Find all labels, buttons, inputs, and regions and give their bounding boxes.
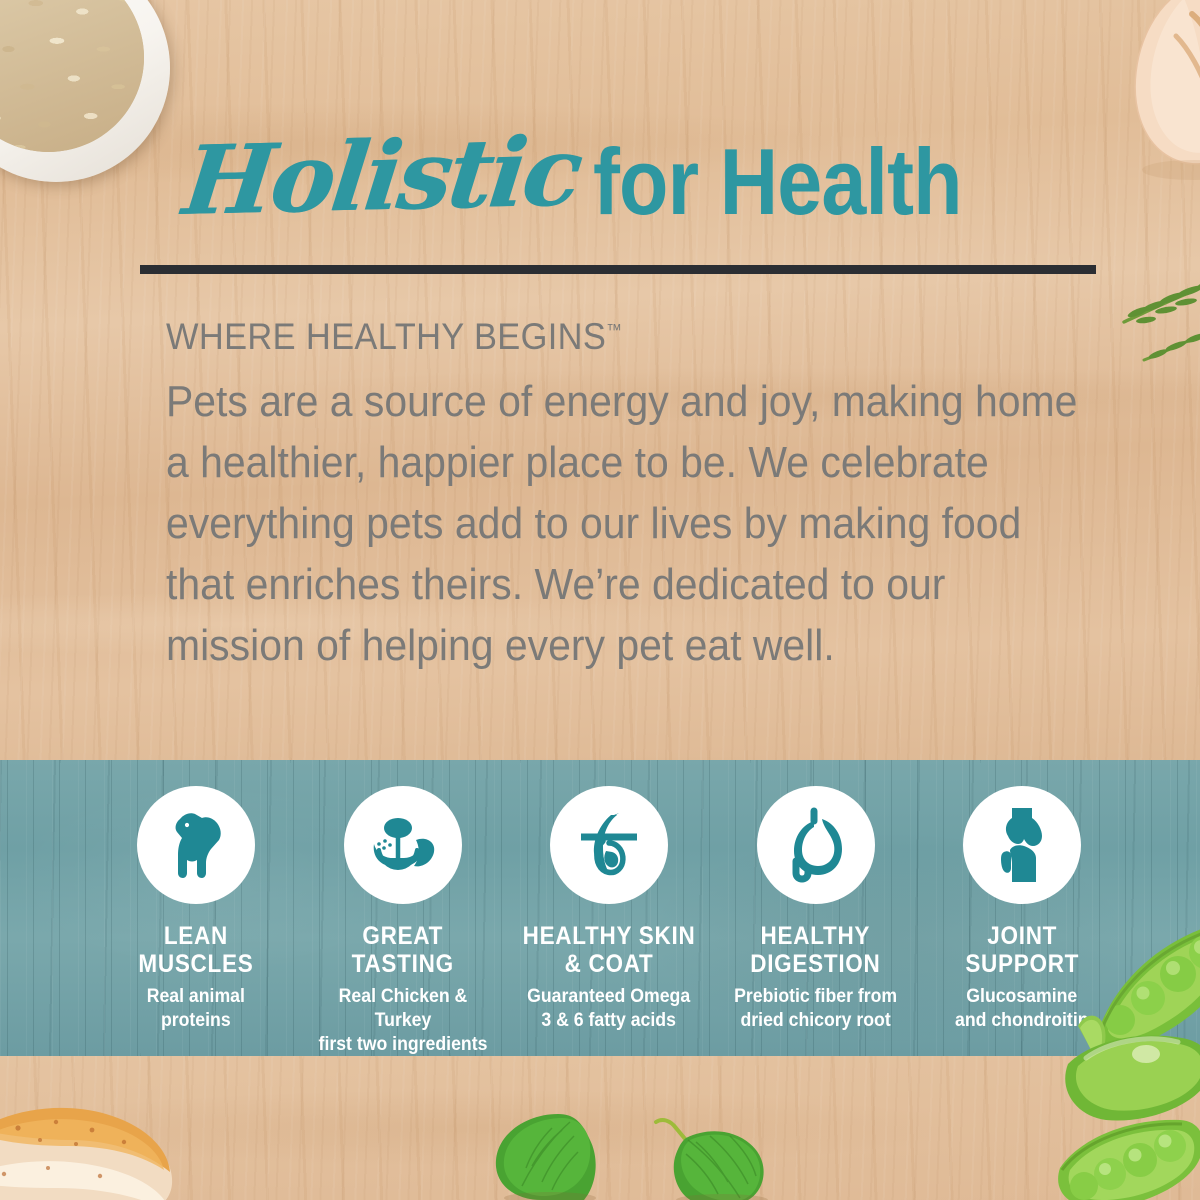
benefit-title-line2: MUSCLES xyxy=(138,950,253,978)
benefit-subtitle: Real animal proteins xyxy=(147,985,245,1033)
benefit-title-line2: SUPPORT xyxy=(965,950,1079,978)
roasted-chicken-bottom-photo xyxy=(0,1078,230,1200)
title-bold-words: for Health xyxy=(593,128,962,236)
benefit-sub-line2: dried chicory root xyxy=(734,1009,897,1033)
benefit-title: JOINT SUPPORT xyxy=(965,922,1079,978)
hair-follicle-icon xyxy=(573,807,645,883)
benefit-lean-muscles[interactable]: LEAN MUSCLES Real animal proteins xyxy=(96,786,296,1033)
benefit-healthy-skin-coat[interactable]: HEALTHY SKIN & COAT Guaranteed Omega 3 &… xyxy=(509,786,709,1033)
benefit-sub-line2: 3 & 6 fatty acids xyxy=(527,1009,690,1033)
benefit-title-line1: HEALTHY xyxy=(750,922,880,950)
tagline-text: WHERE HEALTHY BEGINS xyxy=(166,316,606,357)
benefit-title-line2: & COAT xyxy=(523,950,696,978)
tagline-where-healthy-begins: WHERE HEALTHY BEGINS™ xyxy=(166,318,1087,355)
benefit-sub-line1: Real Chicken & Turkey xyxy=(310,985,496,1033)
benefit-sub-line1: Prebiotic fiber from xyxy=(734,985,897,1009)
benefit-icon-circle xyxy=(757,786,875,904)
benefit-sub-line1: Real animal xyxy=(147,985,245,1009)
benefit-subtitle: Real Chicken & Turkey first two ingredie… xyxy=(310,985,496,1057)
mission-paragraph: Pets are a source of energy and joy, mak… xyxy=(166,371,1087,676)
benefit-title: LEAN MUSCLES xyxy=(138,922,253,978)
stomach-icon xyxy=(780,807,852,883)
trademark-symbol: ™ xyxy=(606,321,621,340)
benefit-title-line2: DIGESTION xyxy=(750,950,880,978)
benefit-title-line1: HEALTHY SKIN xyxy=(523,922,696,950)
benefit-subtitle: Prebiotic fiber from dried chicory root xyxy=(734,985,897,1033)
title-divider-rule xyxy=(140,265,1096,274)
benefit-sub-line2: proteins xyxy=(147,1009,245,1033)
benefit-great-tasting[interactable]: GREAT TASTING Real Chicken & Turkey firs… xyxy=(303,786,503,1057)
dog-silhouette-icon xyxy=(158,807,234,883)
pea-pod-lower xyxy=(1058,1116,1200,1200)
dog-snout-tongue-icon xyxy=(364,810,442,880)
knee-joint-icon xyxy=(990,806,1054,884)
benefit-icon-circle xyxy=(550,786,668,904)
benefit-sub-line1: Glucosamine xyxy=(955,985,1088,1009)
benefit-icon-circle xyxy=(963,786,1081,904)
benefit-subtitle: Guaranteed Omega 3 & 6 fatty acids xyxy=(527,985,690,1033)
spinach-leaf-right xyxy=(648,1110,774,1200)
benefit-title: HEALTHY SKIN & COAT xyxy=(523,922,696,978)
benefit-title: GREAT TASTING xyxy=(351,922,453,978)
title-script-word: Holistic xyxy=(178,116,585,237)
benefit-title-line1: LEAN xyxy=(138,922,253,950)
benefit-sub-line2: first two ingredients xyxy=(310,1033,496,1057)
mission-copy-block: WHERE HEALTHY BEGINS™ Pets are a source … xyxy=(166,318,1156,676)
benefit-sub-line1: Guaranteed Omega xyxy=(527,985,690,1009)
benefit-icon-circle xyxy=(137,786,255,904)
benefit-healthy-digestion[interactable]: HEALTHY DIGESTION Prebiotic fiber from d… xyxy=(716,786,916,1033)
benefit-icon-circle xyxy=(344,786,462,904)
benefit-title: HEALTHY DIGESTION xyxy=(750,922,880,978)
spinach-leaf-left xyxy=(492,1108,604,1200)
benefit-title-line1: JOINT xyxy=(965,922,1079,950)
benefits-row: LEAN MUSCLES Real animal proteins xyxy=(96,786,1122,1057)
benefit-title-line1: GREAT xyxy=(351,922,453,950)
page-title: Holistic for Health xyxy=(0,126,1200,256)
benefit-title-line2: TASTING xyxy=(351,950,453,978)
holistic-for-health-infographic: LEAN MUSCLES Real animal proteins xyxy=(0,0,1200,1200)
